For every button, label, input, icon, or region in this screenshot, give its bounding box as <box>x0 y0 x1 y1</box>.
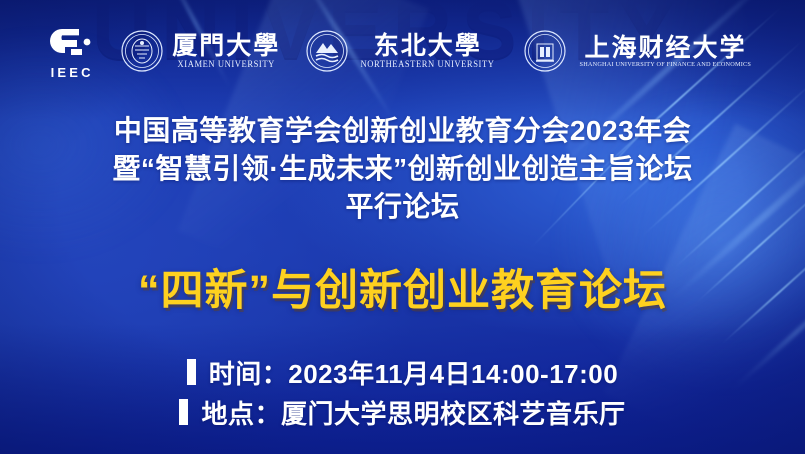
logo-shanghai-university-of-finance-and-economics: 上海财经大学 SHANGHAI UNIVERSITY OF FINANCE AN… <box>524 30 756 72</box>
time-accent-bar <box>187 359 196 385</box>
ieec-abbr-label: IEEC <box>51 65 94 80</box>
northeastern-university-name-cn: 东北大學 <box>374 33 482 58</box>
northeastern-university-names: 东北大學 NORTHEASTERN UNIVERSITY <box>357 33 498 69</box>
event-time-row: 时间：2023年11月4日14:00-17:00 <box>0 352 805 392</box>
event-time-text: 时间：2023年11月4日14:00-17:00 <box>209 354 618 391</box>
event-title-line-2: 暨“智慧引领·生成未来”创新创业创造主旨论坛 <box>0 150 805 188</box>
event-info-block: 时间：2023年11月4日14:00-17:00 地点：厦门大学思明校区科艺音乐… <box>0 352 805 432</box>
logo-northeastern-university: 东北大學 NORTHEASTERN UNIVERSITY <box>306 30 498 72</box>
university-seal-icon <box>524 30 566 72</box>
venue-accent-bar <box>179 399 188 425</box>
event-venue-text: 地点：厦门大学思明校区科艺音乐厅 <box>201 394 625 431</box>
forum-headline: “四新”与创新创业教育论坛 <box>0 264 805 318</box>
event-venue-row: 地点：厦门大学思明校区科艺音乐厅 <box>0 392 805 432</box>
university-seal-icon <box>121 30 163 72</box>
sponsor-logo-row: IEEC 厦門大學 XIAMEN UNIVERSITY <box>0 18 805 84</box>
sufe-name-en: SHANGHAI UNIVERSITY OF FINANCE AND ECONO… <box>580 61 752 68</box>
sufe-names: 上海财经大学 SHANGHAI UNIVERSITY OF FINANCE AN… <box>575 35 756 68</box>
university-seal-icon <box>306 30 348 72</box>
event-title-block: 中国高等教育学会创新创业教育分会2023年会 暨“智慧引领·生成未来”创新创业创… <box>0 112 805 226</box>
xiamen-university-names: 厦門大學 XIAMEN UNIVERSITY <box>172 33 280 69</box>
northeastern-university-name-en: NORTHEASTERN UNIVERSITY <box>361 59 495 69</box>
event-title-line-1: 中国高等教育学会创新创业教育分会2023年会 <box>0 112 805 150</box>
xiamen-university-name-en: XIAMEN UNIVERSITY <box>178 59 275 69</box>
event-title-line-3: 平行论坛 <box>0 188 805 226</box>
ieec-c-mark-icon <box>49 22 95 62</box>
logo-xiamen-university: 厦門大學 XIAMEN UNIVERSITY <box>121 30 280 72</box>
xiamen-university-name-cn: 厦門大學 <box>172 33 280 58</box>
conference-banner: UNIVERSITY IEEC <box>0 0 805 454</box>
sufe-name-cn: 上海财经大学 <box>585 35 747 60</box>
logo-ieec: IEEC <box>49 22 95 80</box>
